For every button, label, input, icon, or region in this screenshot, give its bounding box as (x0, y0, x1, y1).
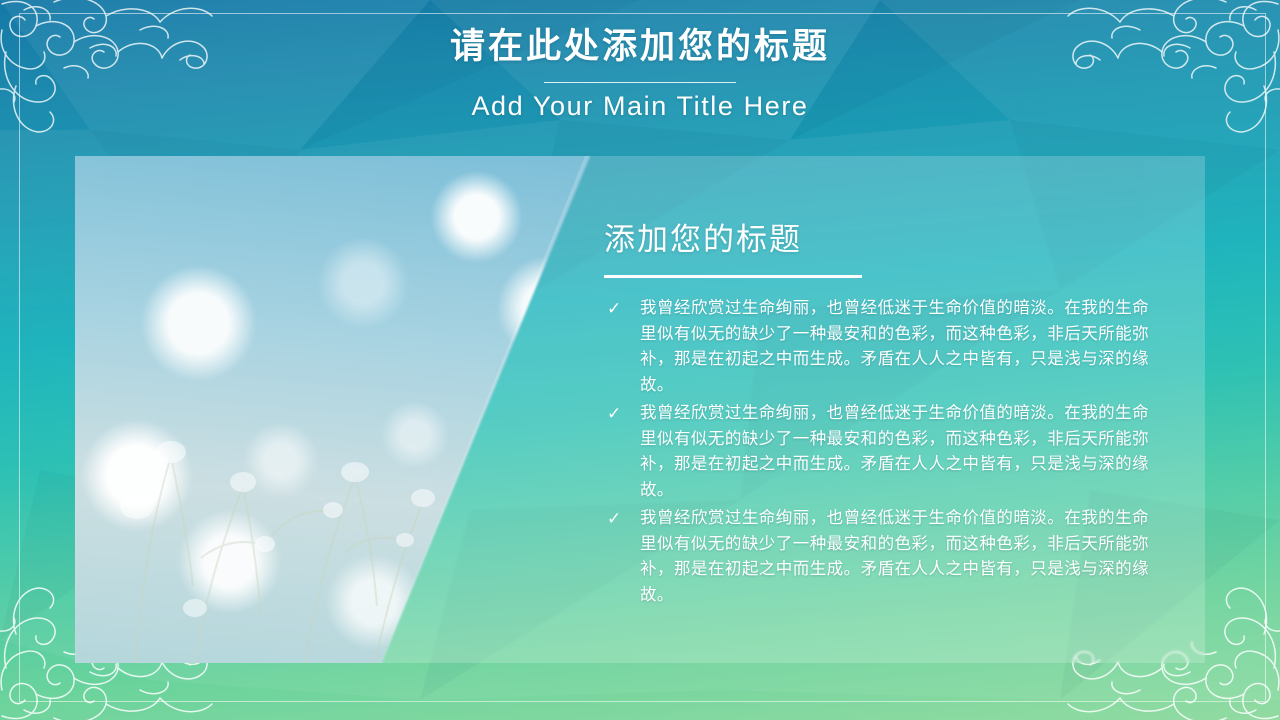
content-area: 添加您的标题 ✓ 我曾经欣赏过生命绚丽，也曾经低迷于生命价值的暗淡。在我的生命里… (604, 156, 1149, 663)
list-item: ✓ 我曾经欣赏过生命绚丽，也曾经低迷于生命价值的暗淡。在我的生命里似有似无的缺少… (604, 296, 1149, 398)
list-item-text: 我曾经欣赏过生命绚丽，也曾经低迷于生命价值的暗淡。在我的生命里似有似无的缺少了一… (640, 296, 1149, 398)
check-icon: ✓ (607, 509, 627, 529)
list-item: ✓ 我曾经欣赏过生命绚丽，也曾经低迷于生命价值的暗淡。在我的生命里似有似无的缺少… (604, 506, 1149, 608)
section-title: 添加您的标题 (604, 220, 802, 260)
slide-header: 请在此处添加您的标题 Add Your Main Title Here (0, 24, 1280, 123)
slide-canvas: 请在此处添加您的标题 Add Your Main Title Here (0, 0, 1280, 720)
list-item: ✓ 我曾经欣赏过生命绚丽，也曾经低迷于生命价值的暗淡。在我的生命里似有似无的缺少… (604, 401, 1149, 503)
page-title-cn: 请在此处添加您的标题 (0, 24, 1280, 70)
bullet-list: ✓ 我曾经欣赏过生命绚丽，也曾经低迷于生命价值的暗淡。在我的生命里似有似无的缺少… (604, 296, 1149, 611)
page-title-en: Add Your Main Title Here (0, 89, 1280, 123)
section-title-underline (604, 275, 862, 278)
list-item-text: 我曾经欣赏过生命绚丽，也曾经低迷于生命价值的暗淡。在我的生命里似有似无的缺少了一… (640, 401, 1149, 503)
title-divider (544, 82, 736, 83)
check-icon: ✓ (607, 299, 627, 319)
list-item-text: 我曾经欣赏过生命绚丽，也曾经低迷于生命价值的暗淡。在我的生命里似有似无的缺少了一… (640, 506, 1149, 608)
check-icon: ✓ (607, 404, 627, 424)
